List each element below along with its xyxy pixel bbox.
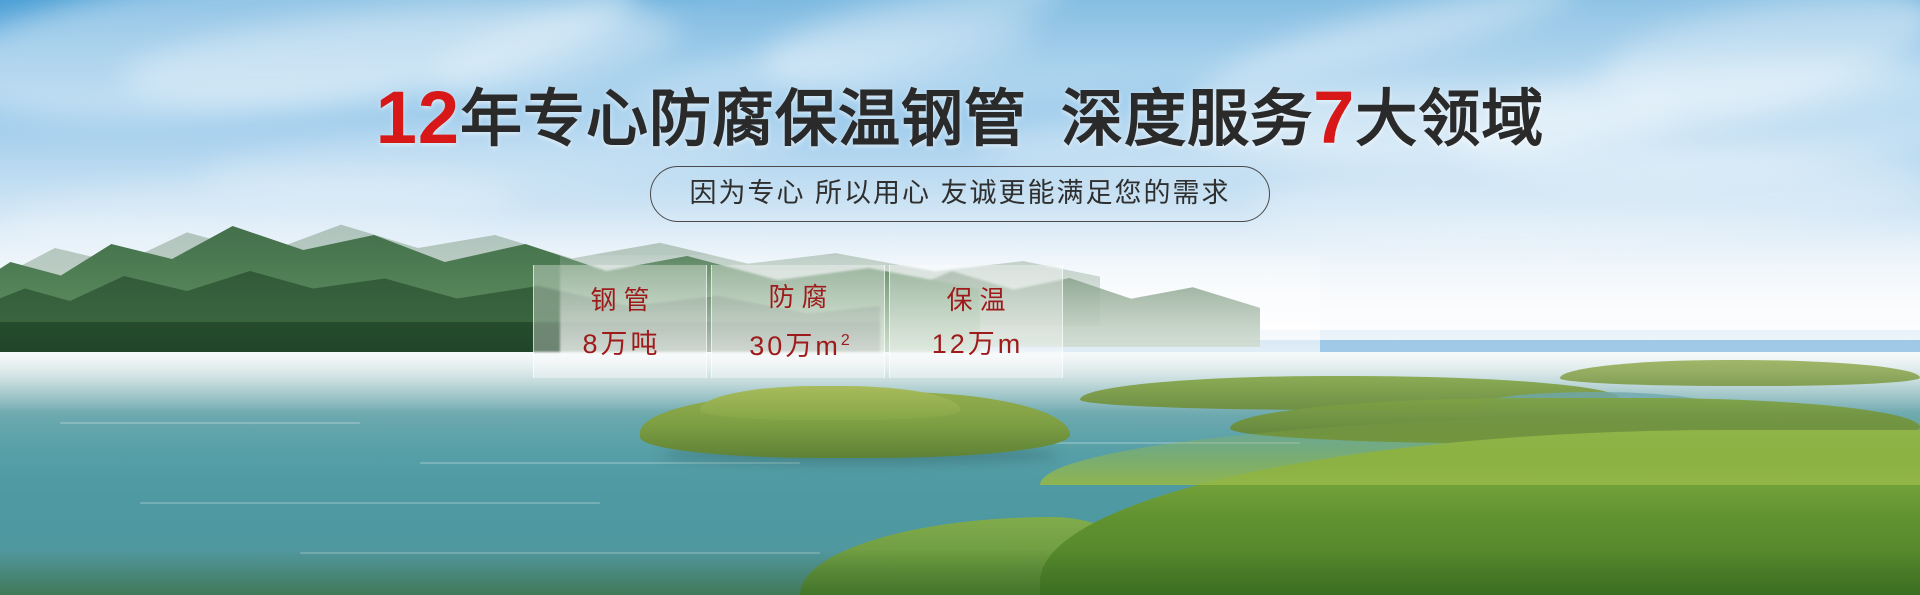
stat-label: 钢管 [583, 285, 656, 315]
stat-card-insulation: 保温 12万m [889, 265, 1063, 378]
headline-service-text: 深度服务 [1061, 85, 1313, 154]
stat-value-exponent: 2 [841, 332, 850, 349]
headline-fields-number: 7 [1313, 76, 1355, 159]
headline-years-number: 12 [376, 76, 460, 159]
stat-label: 保温 [939, 285, 1012, 315]
stat-value: 8万吨 [579, 329, 660, 359]
stat-card-steel-pipe: 钢管 8万吨 [533, 265, 707, 378]
headline-main-text: 年专心防腐保温钢管 [460, 85, 1027, 154]
headline: 12年专心防腐保温钢管深度服务7大领域 [0, 84, 1920, 154]
stat-card-anticorrosion: 防腐 30万m2 [711, 265, 885, 378]
subtitle-pill: 因为专心 所以用心 友诚更能满足您的需求 [650, 166, 1269, 222]
stat-card-group: 钢管 8万吨 防腐 30万m2 保温 12万m [533, 265, 1063, 378]
subtitle-container: 因为专心 所以用心 友诚更能满足您的需求 [0, 166, 1920, 222]
stat-value-main: 12万m [932, 329, 1024, 359]
banner-content: 12年专心防腐保温钢管深度服务7大领域 因为专心 所以用心 友诚更能满足您的需求… [0, 0, 1920, 595]
headline-fields-text: 大领域 [1355, 85, 1544, 154]
stat-value-main: 8万吨 [582, 329, 660, 359]
hero-banner: 12年专心防腐保温钢管深度服务7大领域 因为专心 所以用心 友诚更能满足您的需求… [0, 0, 1920, 595]
stat-value-main: 30万m [749, 331, 841, 361]
stat-label: 防腐 [761, 282, 834, 312]
stat-value: 12万m [929, 329, 1024, 359]
stat-value: 30万m2 [746, 326, 849, 361]
